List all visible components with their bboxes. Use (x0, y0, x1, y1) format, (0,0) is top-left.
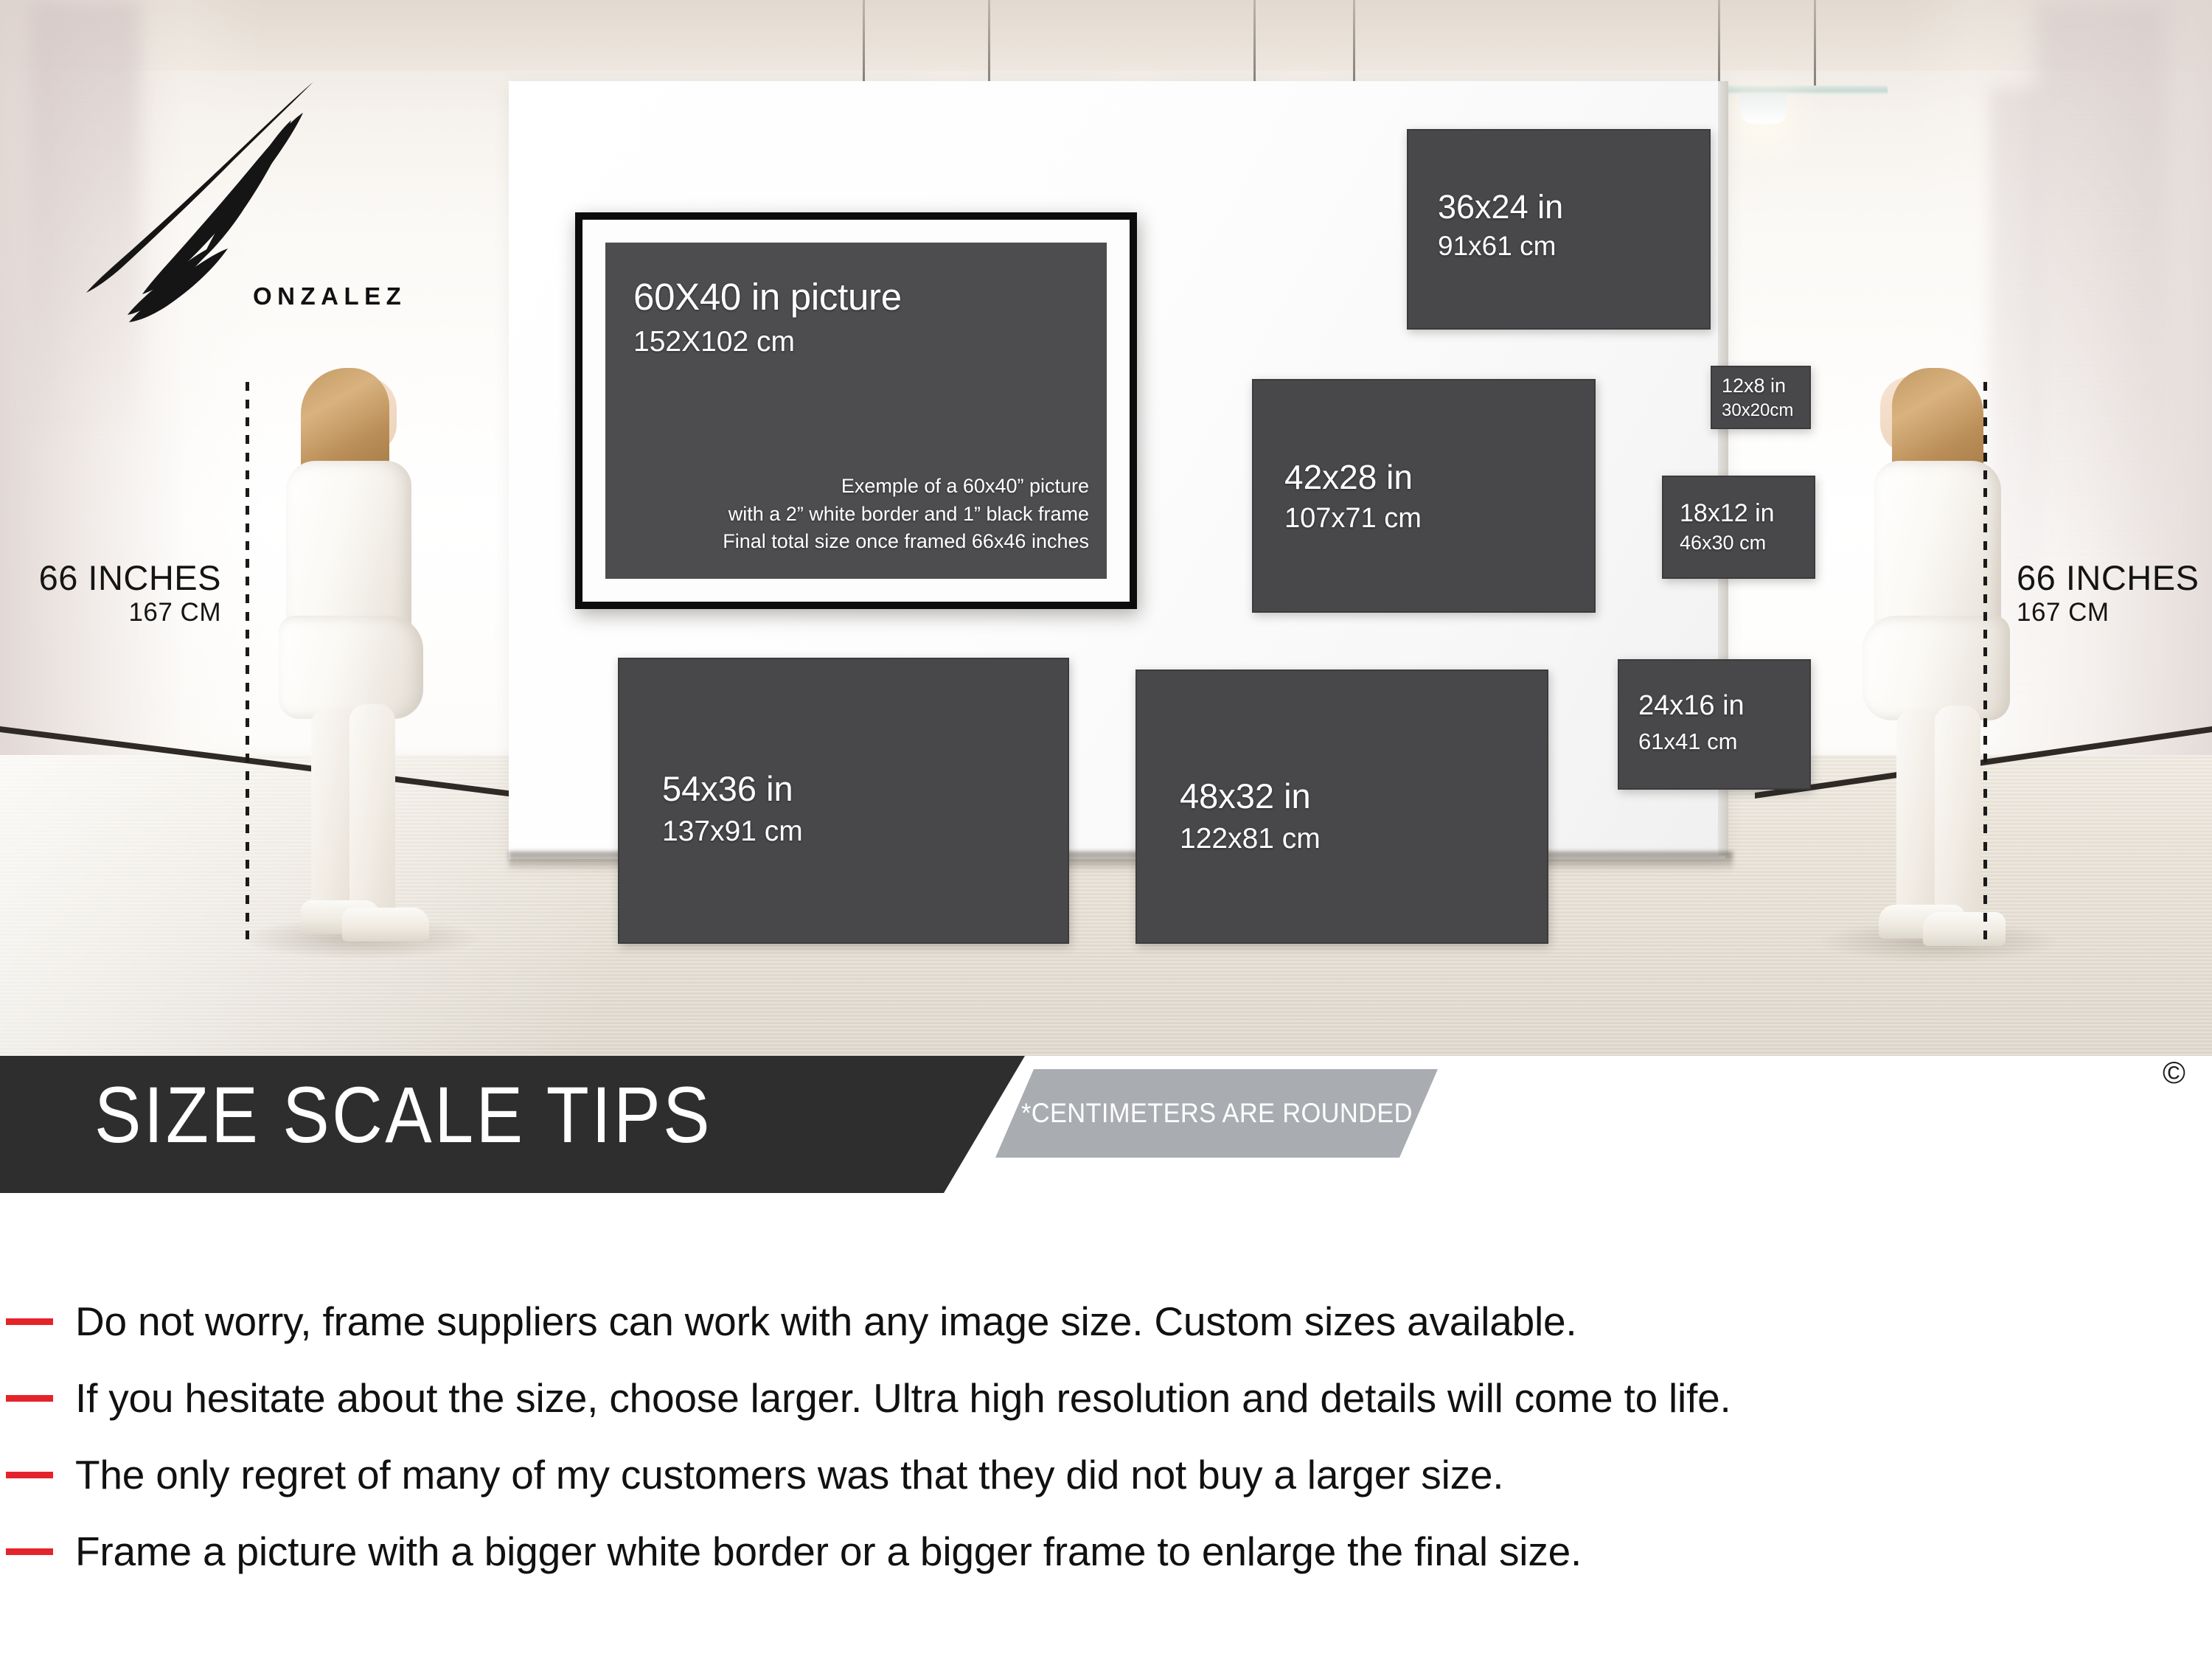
frame-54x36-cm: 137x91 cm (662, 815, 803, 848)
frame-54x36-inches: 54x36 in (662, 768, 793, 809)
frame-42x28-cm: 107x71 cm (1284, 503, 1422, 535)
measure-label-left: 66 INCHES 167 CM (15, 560, 221, 629)
frame-12x8-inches: 12x8 in (1722, 375, 1786, 397)
frame-36x24-cm: 91x61 cm (1438, 231, 1556, 262)
logo-wordmark: ONZALEZ (253, 282, 406, 310)
frame-24x16-inches: 24x16 in (1638, 690, 1745, 722)
poster-root: 66 INCHES 167 CM 66 INCHES 167 CM ONZALE… (0, 0, 2212, 1659)
frame-60x40-mat: 60X40 in picture 152X102 cm Exemple of a… (582, 220, 1130, 602)
frame-48x32-cm: 122x81 cm (1180, 823, 1321, 855)
frame-36x24[interactable]: 36x24 in 91x61 cm (1407, 129, 1711, 330)
gallery-scene: 66 INCHES 167 CM 66 INCHES 167 CM ONZALE… (0, 0, 2212, 1056)
frame-24x16-cm: 61x41 cm (1638, 728, 1737, 755)
measure-left-cm: 167 CM (15, 596, 221, 630)
height-guide-right (1983, 382, 1987, 941)
frame-54x36[interactable]: 54x36 in 137x91 cm (618, 658, 1069, 944)
frame-12x8[interactable]: 12x8 in 30x20cm (1711, 366, 1811, 429)
frame-48x32-inches: 48x32 in (1180, 776, 1311, 816)
tip-dash-icon (6, 1395, 53, 1402)
tips-list: Do not worry, frame suppliers can work w… (0, 1283, 2212, 1590)
tip-text: Frame a picture with a bigger white bord… (75, 1528, 1582, 1575)
tip-text: If you hesitate about the size, choose l… (75, 1374, 1731, 1422)
frame-18x12-inches: 18x12 in (1680, 499, 1775, 528)
frame-18x12-cm: 46x30 cm (1680, 532, 1766, 554)
measure-label-right: 66 INCHES 167 CM (2017, 560, 2212, 629)
measure-right-cm: 167 CM (2017, 596, 2212, 630)
height-guide-left (246, 382, 249, 941)
frame-42x28-inches: 42x28 in (1284, 457, 1413, 497)
frame-60x40-note-line2: with a 2” white border and 1” black fram… (723, 501, 1089, 528)
frame-12x8-cm: 30x20cm (1722, 400, 1793, 421)
tip-text: The only regret of many of my customers … (75, 1451, 1503, 1498)
frame-60x40-framed-example[interactable]: 60X40 in picture 152X102 cm Exemple of a… (575, 212, 1137, 609)
frame-24x16[interactable]: 24x16 in 61x41 cm (1618, 659, 1811, 790)
measure-right-inches: 66 INCHES (2017, 560, 2212, 596)
frame-60x40-note: Exemple of a 60x40” picture with a 2” wh… (723, 473, 1089, 555)
measure-left-inches: 66 INCHES (15, 560, 221, 596)
frame-60x40-cm: 152X102 cm (633, 326, 795, 358)
frame-48x32[interactable]: 48x32 in 122x81 cm (1135, 669, 1548, 944)
copyright-icon: © (2163, 1057, 2185, 1088)
frame-60x40-note-line3: Final total size once framed 66x46 inche… (723, 528, 1089, 555)
tip-dash-icon (6, 1472, 53, 1478)
tip-item: Frame a picture with a bigger white bord… (0, 1513, 2212, 1590)
tip-text: Do not worry, frame suppliers can work w… (75, 1298, 1577, 1345)
banner-title: SIZE SCALE TIPS (94, 1068, 712, 1161)
frame-36x24-inches: 36x24 in (1438, 188, 1563, 226)
tip-item: Do not worry, frame suppliers can work w… (0, 1283, 2212, 1360)
tip-dash-icon (6, 1548, 53, 1555)
brand-logo: ONZALEZ (70, 77, 380, 332)
frame-42x28[interactable]: 42x28 in 107x71 cm (1252, 379, 1596, 613)
banner-note: *CENTIMETERS ARE ROUNDED (1021, 1098, 1413, 1129)
frame-60x40-inches: 60X40 in picture (633, 275, 902, 319)
person-left-figure (265, 372, 457, 940)
tip-dash-icon (6, 1318, 53, 1325)
person-right-figure (1836, 372, 2028, 944)
right-wall-highlight (2035, 0, 2168, 560)
tip-item: If you hesitate about the size, choose l… (0, 1360, 2212, 1436)
frame-18x12[interactable]: 18x12 in 46x30 cm (1662, 476, 1815, 579)
tip-item: The only regret of many of my customers … (0, 1436, 2212, 1513)
frame-60x40-note-line1: Exemple of a 60x40” picture (723, 473, 1089, 500)
frame-60x40-artwork: 60X40 in picture 152X102 cm Exemple of a… (605, 243, 1107, 579)
